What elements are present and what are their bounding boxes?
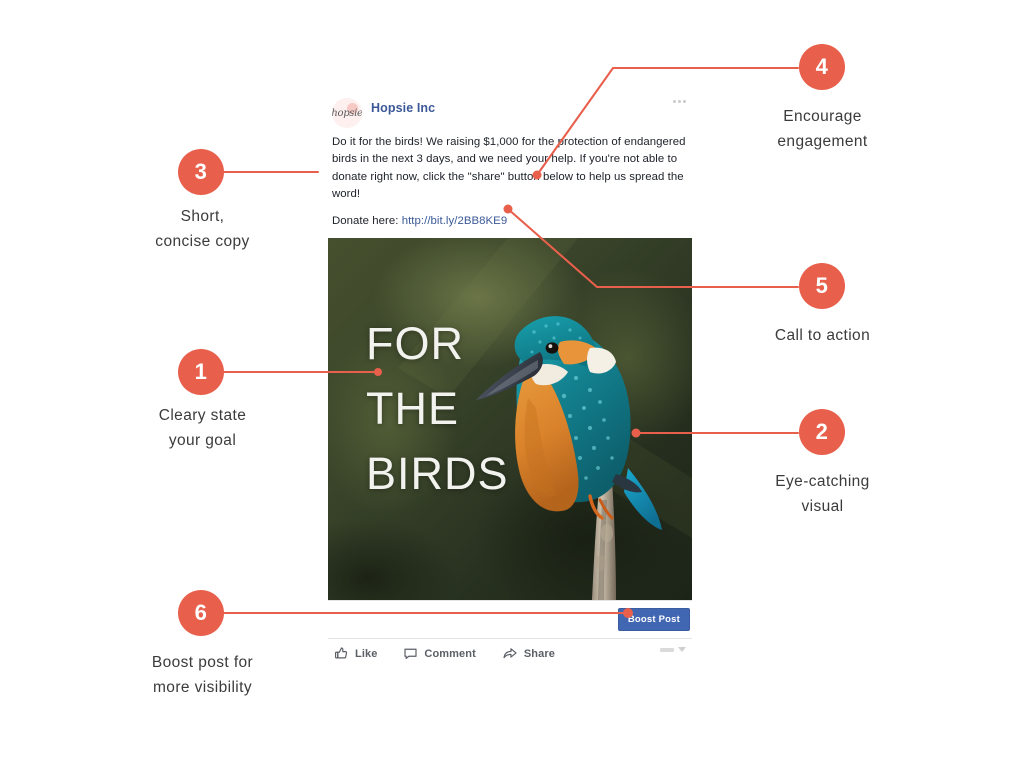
share-button[interactable]: Share: [502, 646, 555, 661]
annotation-caption-5: Call to action: [700, 324, 945, 349]
boost-post-button[interactable]: Boost Post: [618, 608, 690, 631]
chevron-down-icon: [678, 647, 686, 652]
comment-label: Comment: [424, 648, 475, 660]
annotation-caption-4: Encourage engagement: [700, 105, 945, 155]
infographic-canvas: hopsie Hopsie Inc Do it for the birds! W…: [0, 0, 1024, 768]
annotation-badge-1[interactable]: 1: [178, 349, 224, 395]
annotation-badge-5[interactable]: 5: [799, 263, 845, 309]
page-name[interactable]: Hopsie Inc: [371, 101, 435, 115]
facebook-post-card: hopsie Hopsie Inc Do it for the birds! W…: [324, 88, 696, 671]
page-logo-text: hopsie: [332, 108, 362, 119]
annotation-badge-6[interactable]: 6: [178, 590, 224, 636]
more-options-icon[interactable]: [673, 100, 686, 103]
post-copy-text: Do it for the birds! We raising $1,000 f…: [332, 134, 688, 203]
annotation-caption-2: Eye-catching visual: [700, 470, 945, 520]
creative-line-1: FOR: [366, 312, 509, 377]
post-body: Do it for the birds! We raising $1,000 f…: [324, 128, 696, 230]
avatar[interactable]: hopsie: [332, 98, 362, 128]
post-creative-image[interactable]: FOR THE BIRDS: [328, 238, 692, 600]
annotation-badge-2[interactable]: 2: [799, 409, 845, 455]
donate-link[interactable]: http://bit.ly/2BB8KE9: [402, 215, 508, 227]
audience-dropdown[interactable]: [660, 647, 686, 652]
donate-line: Donate here: http://bit.ly/2BB8KE9: [332, 213, 688, 230]
annotation-badge-3[interactable]: 3: [178, 149, 224, 195]
share-label: Share: [524, 648, 555, 660]
comment-button[interactable]: Comment: [403, 646, 475, 661]
like-label: Like: [355, 648, 377, 660]
boost-row: Boost Post: [324, 601, 696, 638]
thumbs-up-icon: [334, 646, 349, 661]
creative-line-3: BIRDS: [366, 442, 509, 507]
post-header: hopsie Hopsie Inc: [324, 88, 696, 128]
like-button[interactable]: Like: [334, 646, 377, 661]
annotation-badge-4[interactable]: 4: [799, 44, 845, 90]
creative-line-2: THE: [366, 377, 509, 442]
post-actions-bar: Like Comment Share: [324, 639, 696, 671]
creative-headline: FOR THE BIRDS: [366, 312, 509, 506]
annotation-caption-1: Cleary state your goal: [80, 404, 325, 454]
comment-bubble-icon: [403, 646, 418, 661]
share-arrow-icon: [502, 646, 518, 661]
audience-label-placeholder: [660, 648, 674, 652]
donate-prefix: Donate here:: [332, 215, 402, 227]
annotation-caption-3: Short, concise copy: [80, 205, 325, 255]
annotation-caption-6: Boost post for more visibility: [80, 651, 325, 701]
